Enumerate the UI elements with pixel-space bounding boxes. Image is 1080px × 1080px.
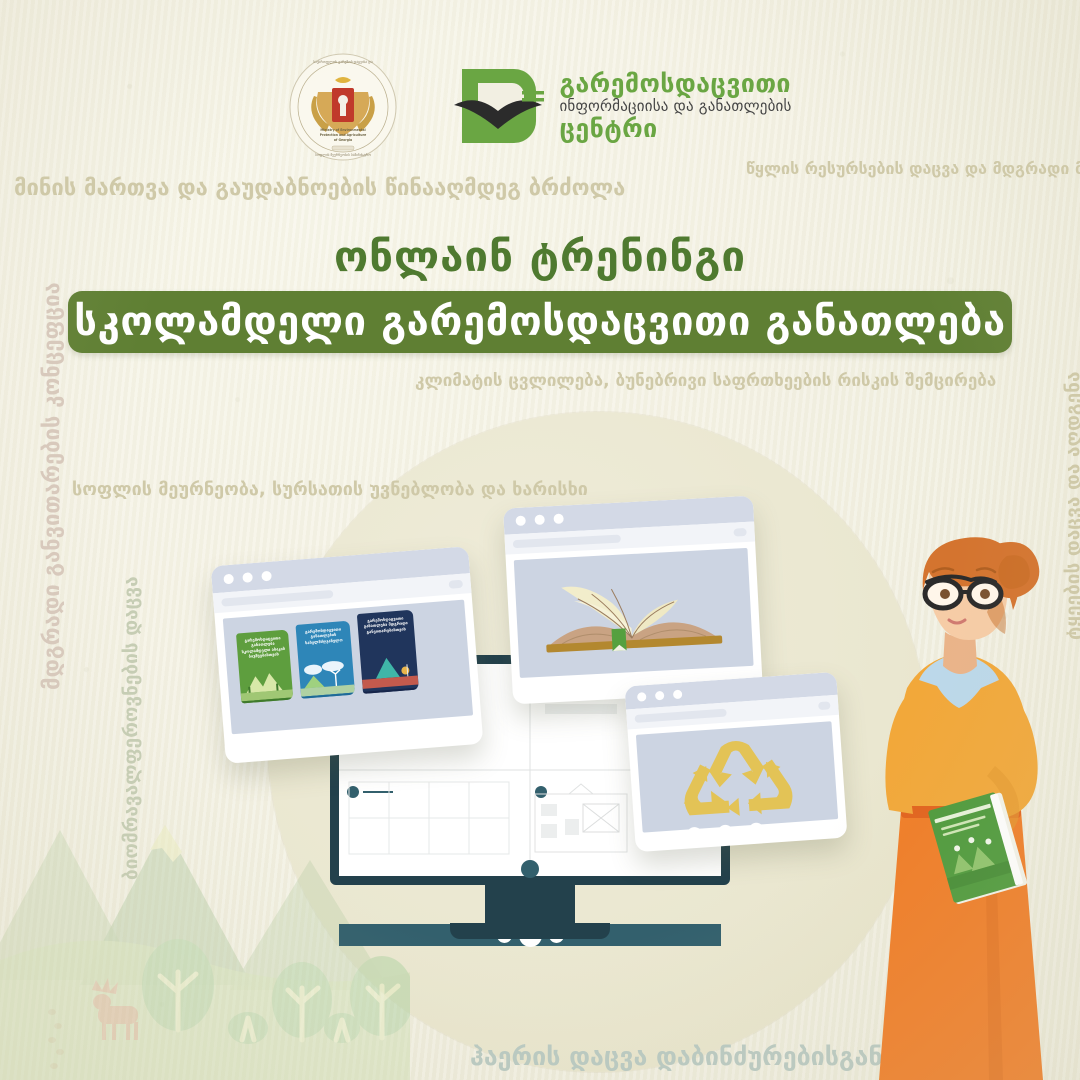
recycle-icon (636, 721, 838, 832)
book-cover[interactable]: გარემოსდაცვითი განათლების სახელმძღვანელო (295, 621, 355, 699)
window-dot (553, 514, 564, 525)
monitor-base (450, 923, 610, 939)
window-dot (223, 573, 234, 584)
teacher-illustration (845, 520, 1080, 1080)
poster-canvas: საქართველოს გარემოს დაცვისა და სოფლის მე… (0, 0, 1080, 1080)
monitor-camera-dot (521, 860, 539, 878)
window-dot (534, 515, 545, 526)
books-browser-window[interactable]: გარემოსდაცვითი განათლება სკოლამდელი ასაკ… (211, 546, 484, 764)
window-dot (242, 572, 253, 583)
window-dot (673, 690, 683, 700)
artwork: გარემოსდაცვითი განათლება სკოლამდელი ასაკ… (0, 0, 1080, 1080)
open-book-window[interactable] (503, 496, 763, 705)
window-dot (515, 516, 526, 527)
book-cover[interactable]: გარემოსდაცვითი განათლება მდგრადი განვითა… (357, 610, 419, 694)
window-content: გარემოსდაცვითი განათლება სკოლამდელი ასაკ… (223, 600, 473, 735)
book-cover[interactable]: გარემოსდაცვითი განათლება სკოლამდელი ასაკ… (236, 630, 293, 704)
window-dot (261, 570, 272, 581)
window-content (514, 548, 754, 678)
window-dot (655, 691, 665, 701)
book-title: გარემოსდაცვითი განათლების სახელმძღვანელო (295, 621, 350, 646)
window-content (636, 721, 838, 832)
open-book-icon (514, 548, 754, 678)
book-title: გარემოსდაცვითი განათლება მდგრადი განვითა… (357, 610, 414, 636)
window-dot (637, 692, 647, 702)
book-title: გარემოსდაცვითი განათლება სკოლამდელი ასაკ… (236, 630, 290, 661)
recycle-window[interactable] (624, 672, 847, 852)
